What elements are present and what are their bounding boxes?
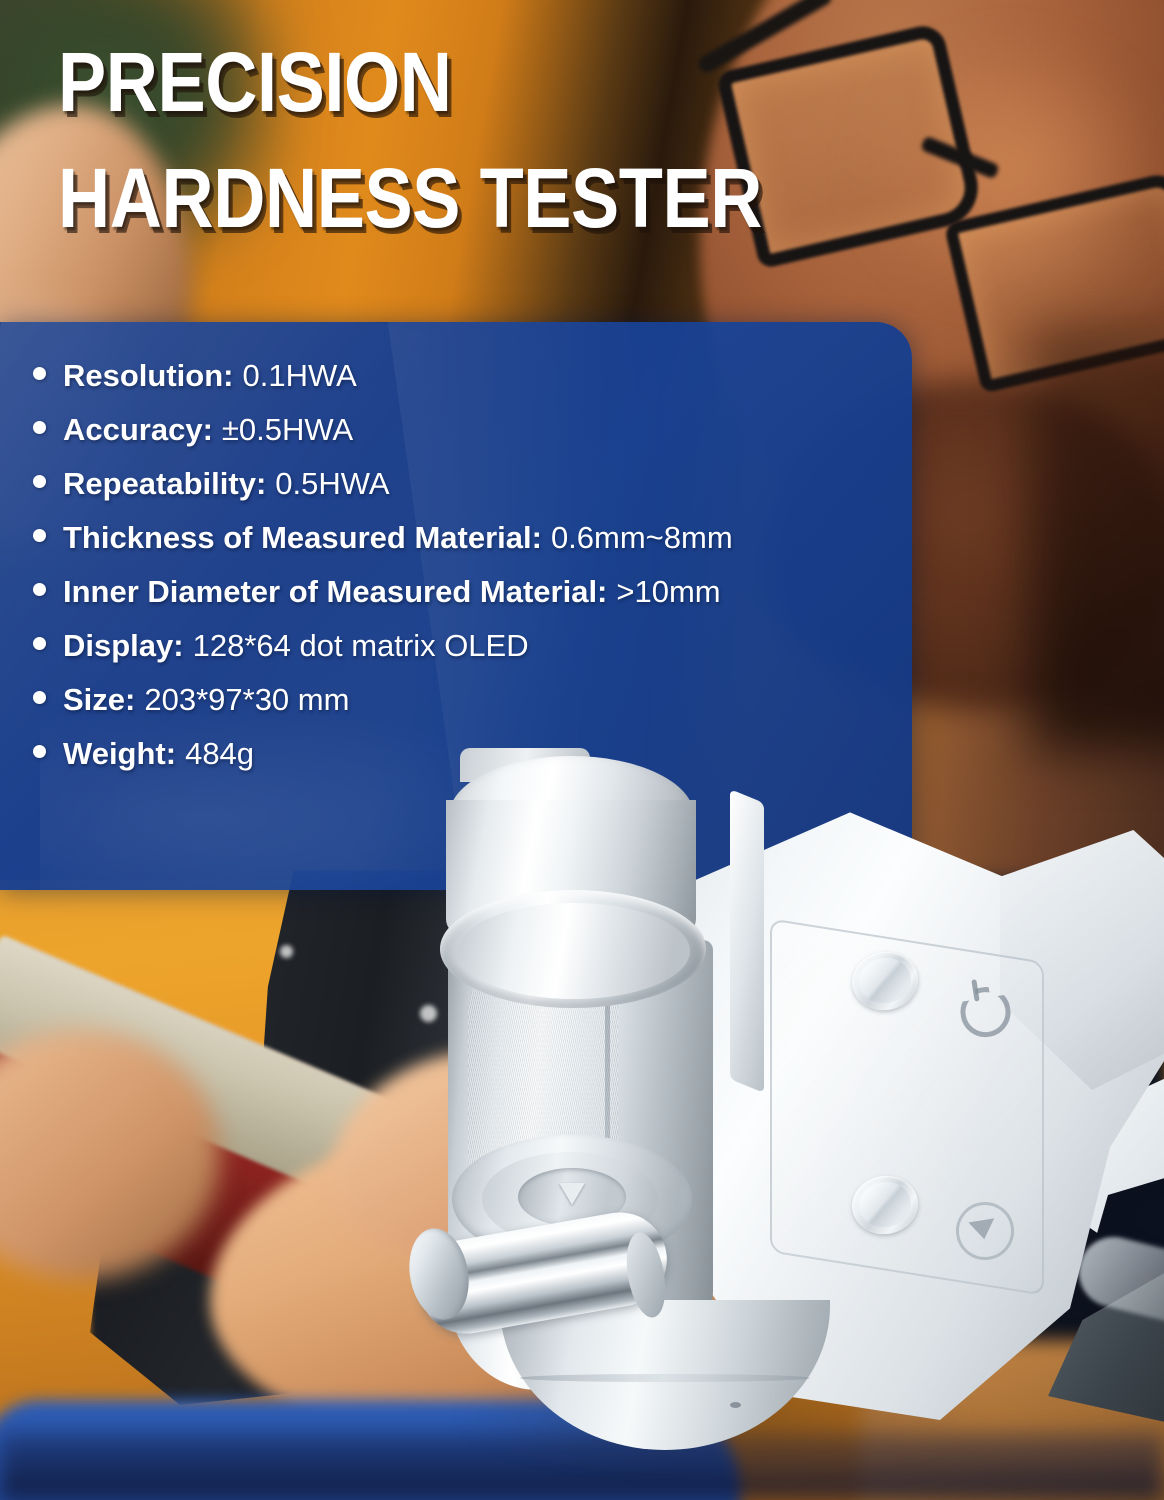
- drum-ring-inner: [458, 903, 690, 999]
- spec-label: Repeatability:: [63, 468, 266, 499]
- face-shadow: [1030, 330, 1164, 750]
- spec-label: Resolution:: [63, 360, 234, 391]
- specifications-list: Resolution: 0.1HWA Accuracy: ±0.5HWA Rep…: [0, 322, 912, 769]
- spec-label: Weight:: [63, 738, 176, 769]
- spec-label: Accuracy:: [63, 414, 213, 445]
- list-item: Repeatability: 0.5HWA: [0, 468, 912, 499]
- spec-value: 128*64 dot matrix OLED: [193, 630, 529, 661]
- list-item: Thickness of Measured Material: 0.6mm~8m…: [0, 522, 912, 553]
- base-seam-line: [520, 1374, 810, 1382]
- bullet-icon: [33, 583, 46, 596]
- spec-value: 0.6mm~8mm: [551, 522, 733, 553]
- stone-speck: [280, 945, 293, 958]
- list-item: Size: 203*97*30 mm: [0, 684, 912, 715]
- panel-edge: [730, 789, 764, 1093]
- bullet-icon: [33, 421, 46, 434]
- bullet-icon: [33, 529, 46, 542]
- power-icon: [953, 977, 1006, 1030]
- bullet-icon: [33, 367, 46, 380]
- bullet-icon: [33, 475, 46, 488]
- bullet-icon: [33, 691, 46, 704]
- title-line-1: PRECISION: [58, 40, 832, 124]
- list-item: Inner Diameter of Measured Material: >10…: [0, 576, 912, 607]
- spec-label: Display:: [63, 630, 184, 661]
- list-item: Resolution: 0.1HWA: [0, 360, 912, 391]
- product-image-hardness-tester: [400, 740, 1164, 1440]
- spec-value: 0.1HWA: [243, 360, 357, 391]
- spec-label: Thickness of Measured Material:: [63, 522, 542, 553]
- bullet-icon: [33, 745, 46, 758]
- title-line-2: HARDNESS TESTER: [58, 156, 832, 240]
- spec-value: ±0.5HWA: [222, 414, 353, 445]
- product-feature-poster: PRECISION HARDNESS TESTER Resolution: 0.…: [0, 0, 1164, 1500]
- spec-value: >10mm: [616, 576, 720, 607]
- page-title: PRECISION HARDNESS TESTER: [58, 40, 958, 272]
- spec-value: 0.5HWA: [275, 468, 389, 499]
- indenter-tip-icon: [559, 1183, 585, 1205]
- spec-value: 203*97*30 mm: [144, 684, 349, 715]
- bullet-icon: [33, 637, 46, 650]
- list-item: Accuracy: ±0.5HWA: [0, 414, 912, 445]
- spec-label: Inner Diameter of Measured Material:: [63, 576, 607, 607]
- spec-label: Size:: [63, 684, 135, 715]
- spec-value: 484g: [185, 738, 254, 769]
- list-item: Display: 128*64 dot matrix OLED: [0, 630, 912, 661]
- vent-hole: [730, 1402, 741, 1408]
